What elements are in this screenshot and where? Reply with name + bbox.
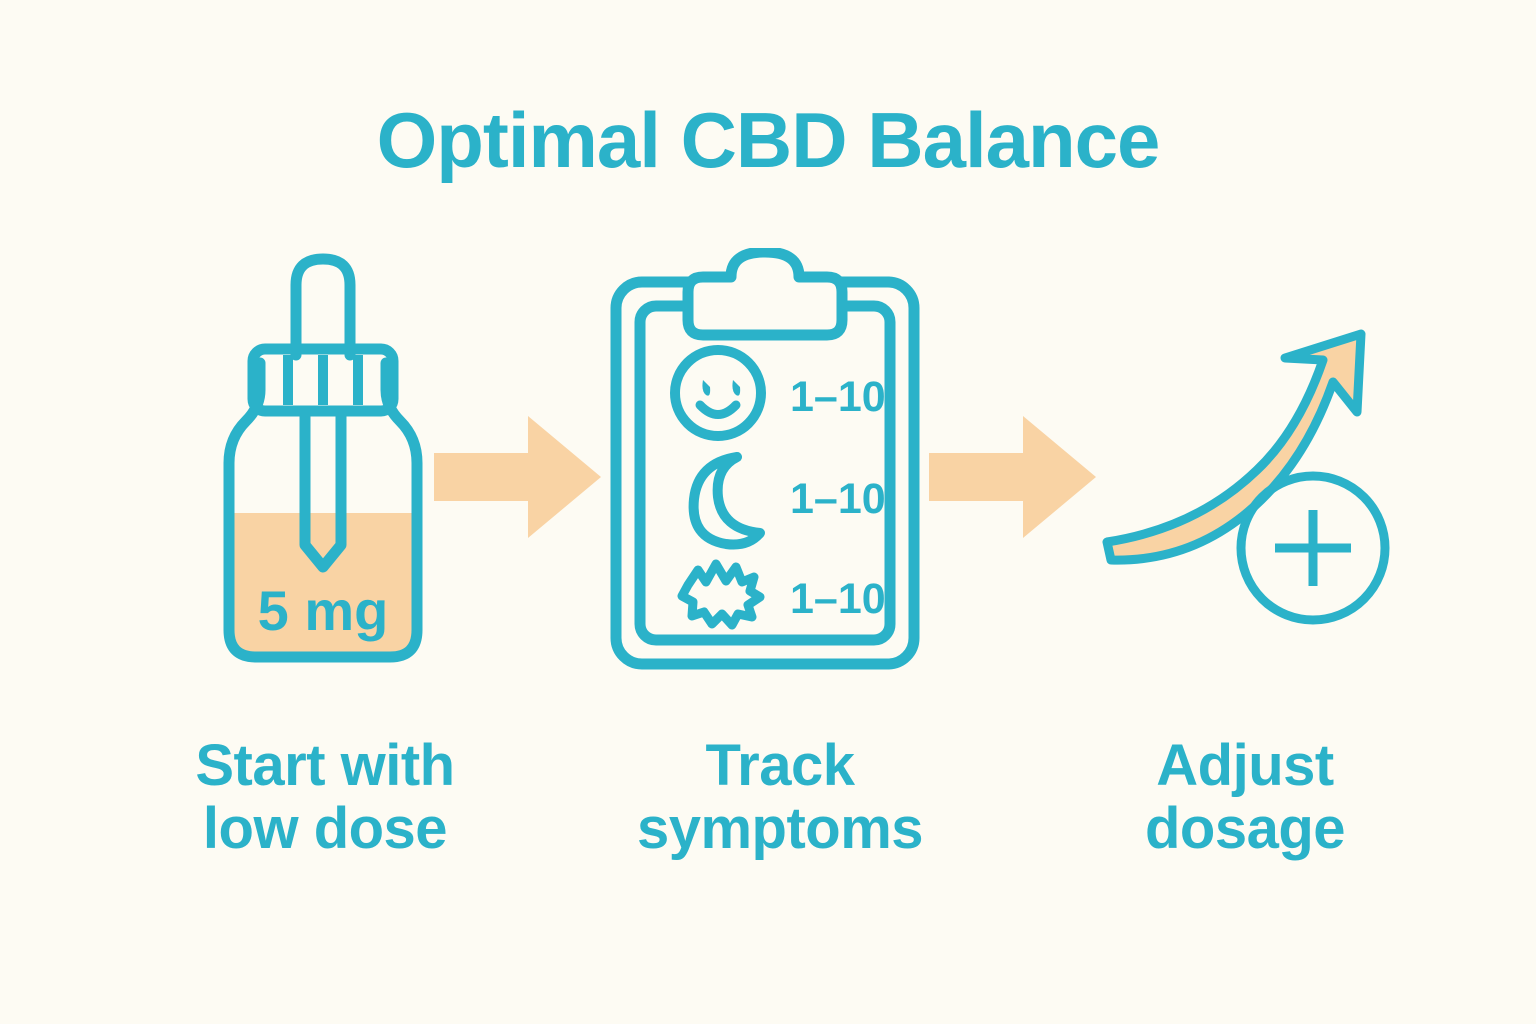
step-label-line2: low dose [90,798,560,861]
step-label-line1: Start with [90,735,560,798]
step-label-line1: Track [545,735,1015,798]
step-label-line1: Adjust [1030,735,1460,798]
step-label-line2: dosage [1030,798,1460,861]
pain-burst-icon [682,564,760,625]
page-title: Optimal CBD Balance [0,95,1536,186]
upward-trend-arrow-icon [1085,320,1405,640]
smiley-eye-left [702,380,710,396]
step-label-adjust-dosage: Adjust dosage [1030,735,1460,860]
crescent-moon-icon [694,457,760,545]
step-label-start-low-dose: Start with low dose [90,735,560,860]
infographic-canvas: Optimal CBD Balance 5 mg 1–10 [0,0,1536,1024]
step-label-line2: symptoms [545,798,1015,861]
dropper-bulb-icon [296,259,350,355]
smiley-eye-right [732,380,740,396]
right-arrow-icon [925,412,1100,542]
pain-scale-text: 1–10 [790,575,886,623]
dropper-bottle-icon: 5 mg [198,245,448,675]
step-label-track-symptoms: Track symptoms [545,735,1015,860]
clipboard-icon: 1–10 1–10 1–10 [600,248,930,678]
trend-arrow-shape [1107,334,1361,560]
clipboard-clip-icon [688,252,842,335]
mood-scale-text: 1–10 [790,373,886,421]
right-arrow-icon [430,412,605,542]
arrow-shape [434,416,601,538]
smiley-face-icon [675,350,761,436]
dose-value-text: 5 mg [258,579,389,642]
arrow-shape [929,416,1096,538]
smiley-mouth [700,405,736,415]
sleep-scale-text: 1–10 [790,475,886,523]
